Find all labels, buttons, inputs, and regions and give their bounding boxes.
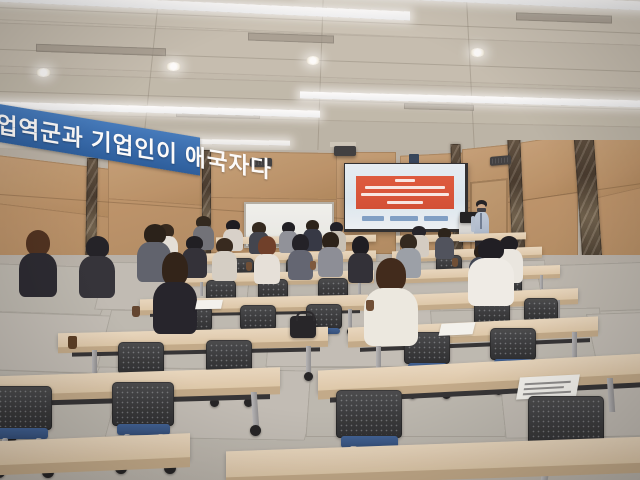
ceiling-downlight — [306, 56, 320, 65]
ceiling-downlight — [470, 48, 485, 57]
ceiling-downlight — [166, 62, 181, 71]
slide-logo — [424, 216, 448, 221]
seminar-room-photo: 업역군과 기업인이 애국자다 — [0, 0, 640, 480]
slide-logo — [362, 216, 384, 221]
slide-line-year — [395, 179, 415, 182]
coffee-cup — [366, 300, 374, 311]
wall-speaker-right — [490, 155, 511, 166]
handout-on-table — [195, 300, 223, 310]
coffee-cup — [452, 258, 458, 267]
slide-line-3 — [387, 201, 423, 204]
projection-screen-frame — [344, 163, 468, 232]
presenter-shirt-placket — [480, 213, 482, 229]
ceiling-downlight — [36, 68, 51, 77]
coffee-cup — [310, 261, 316, 270]
projection-slide — [345, 164, 465, 229]
slide-logo — [390, 216, 418, 221]
slide-line-2 — [361, 193, 449, 196]
coffee-cup — [132, 306, 140, 317]
ceiling-projector — [334, 146, 356, 156]
coffee-cup — [246, 262, 252, 271]
slide-line-1 — [365, 186, 445, 189]
handout-on-table — [439, 322, 476, 336]
presenter-arm — [471, 216, 475, 232]
bag-handle — [296, 311, 315, 321]
coffee-cup — [68, 336, 77, 349]
